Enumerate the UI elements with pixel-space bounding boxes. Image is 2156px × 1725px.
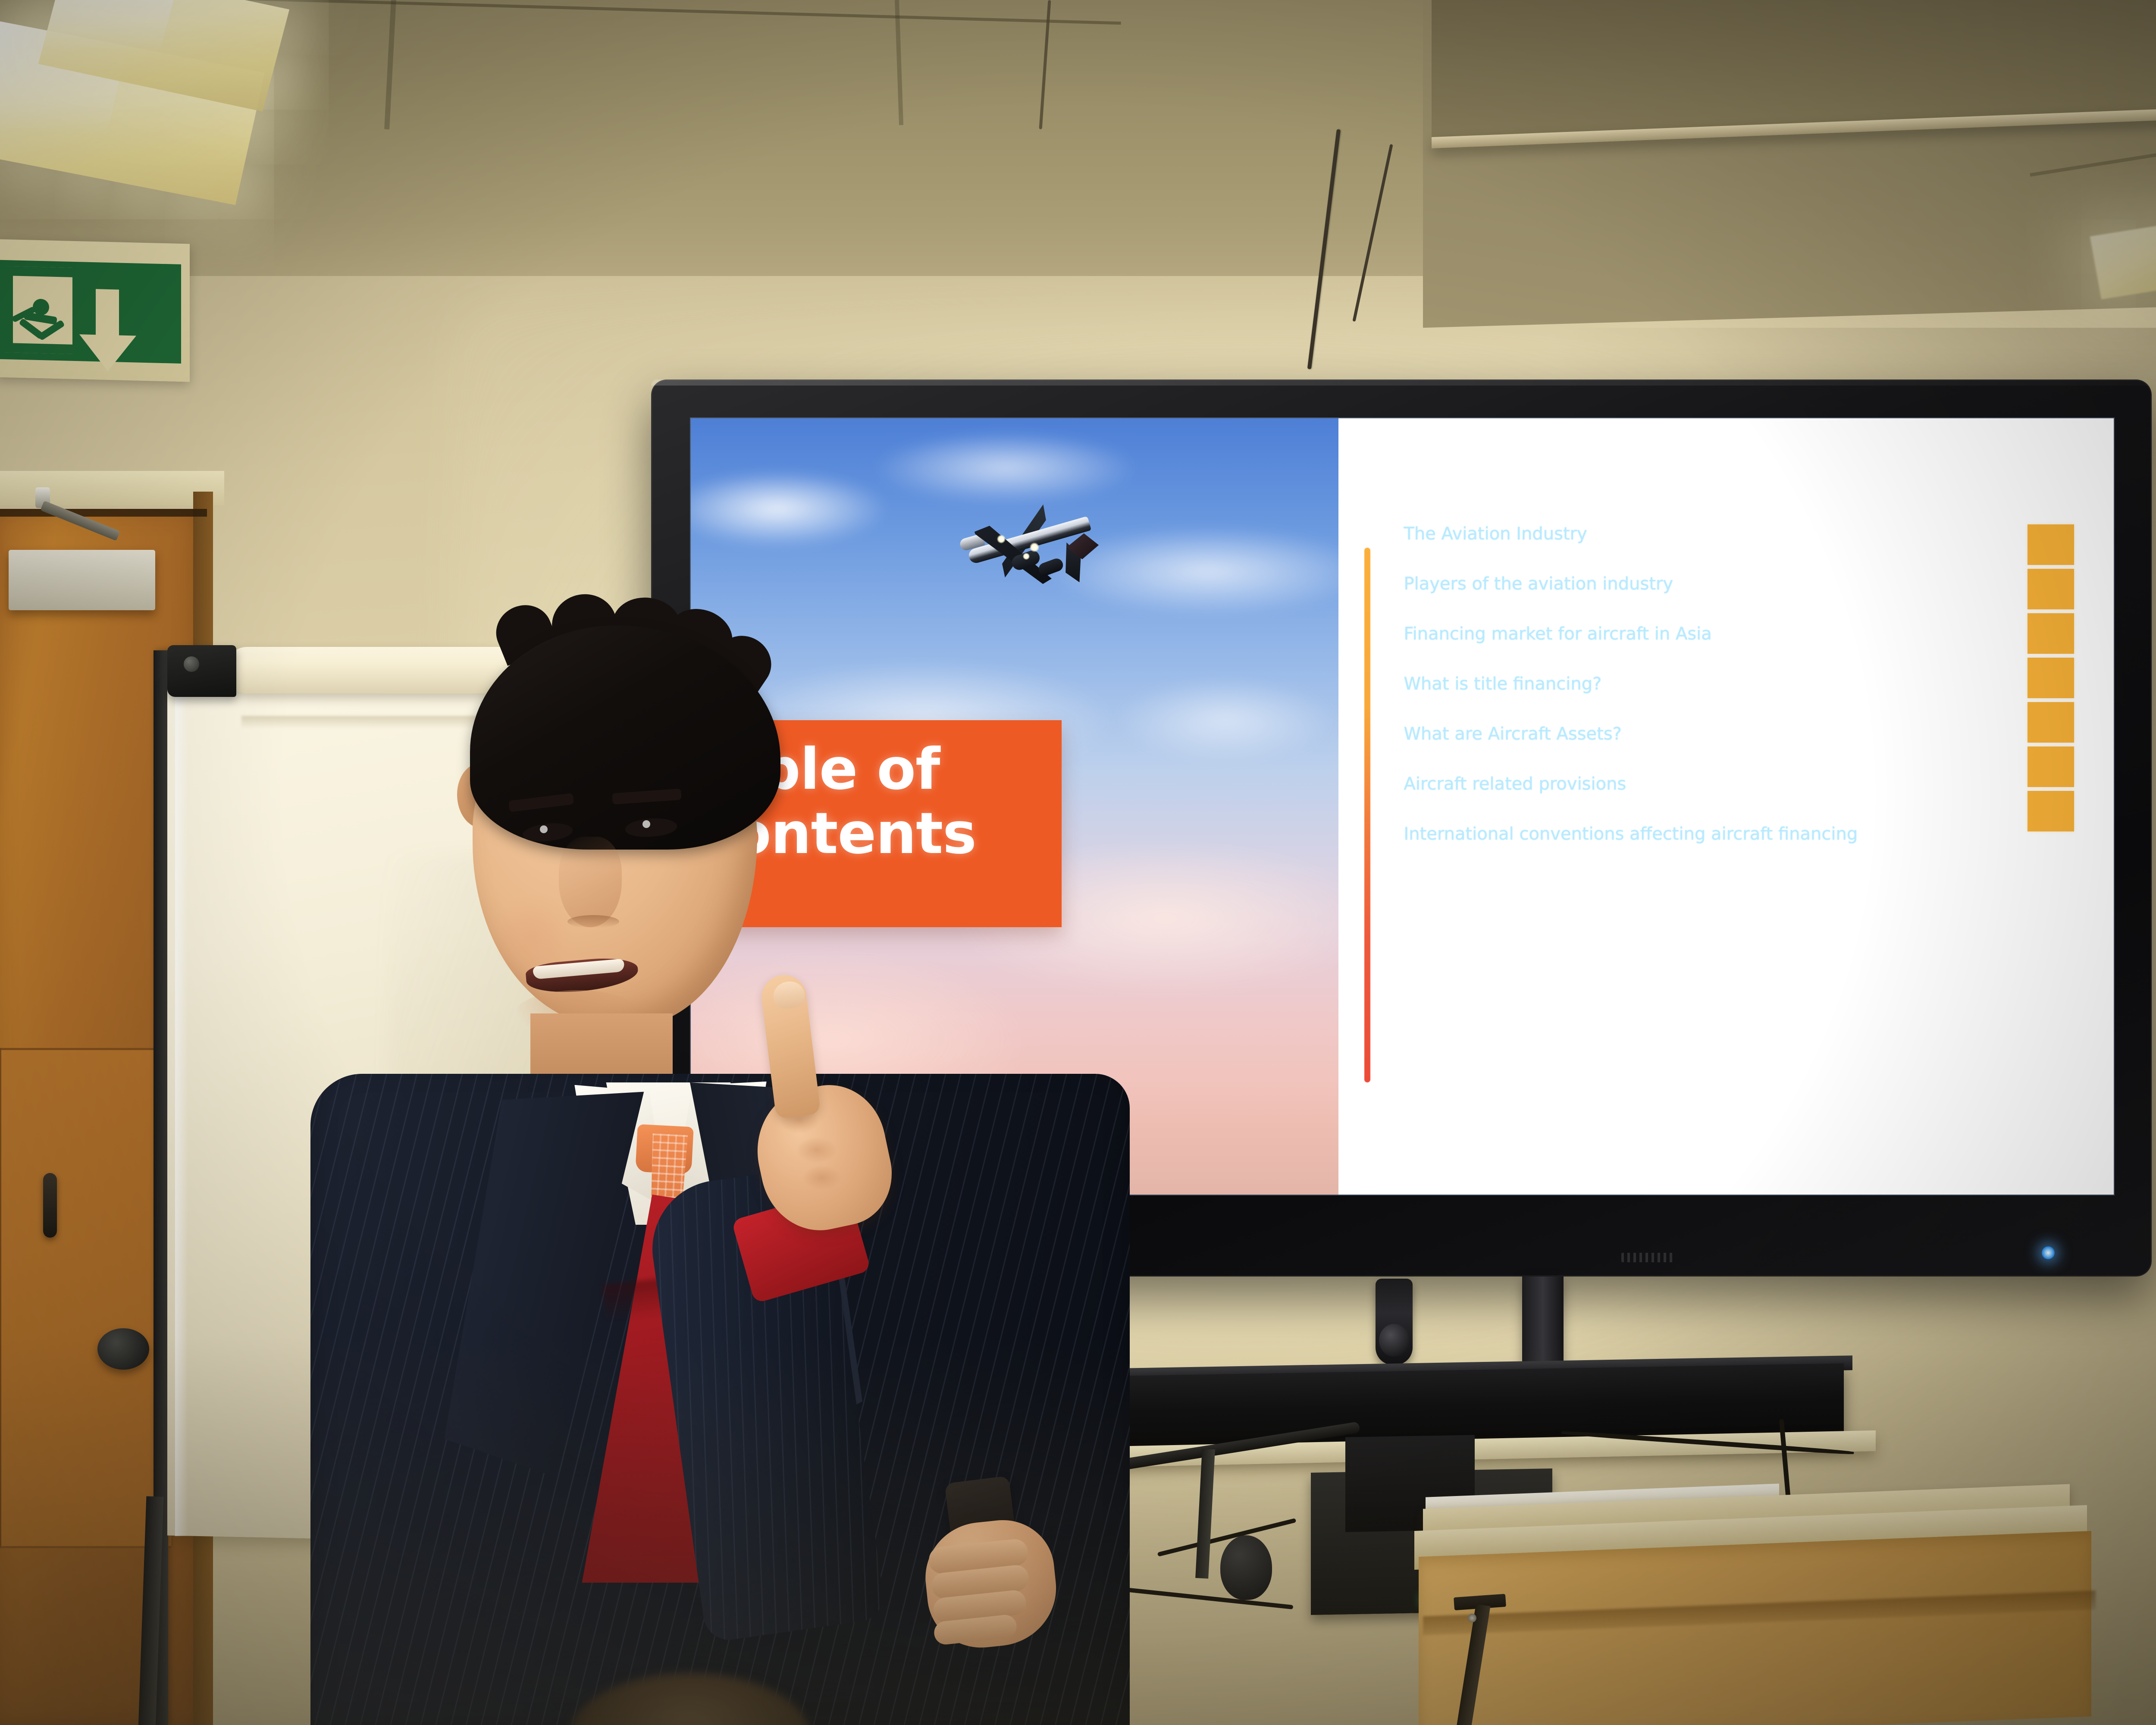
list-item: Aircraft related provisions: [1404, 775, 2008, 793]
list-item: What is title financing?: [1404, 675, 2008, 693]
knuckle-shading: [802, 1165, 842, 1190]
list-item: What are Aircraft Assets?: [1404, 725, 2008, 743]
display-bezel-highlight: [651, 379, 2152, 386]
lecture-room-scene: Table of Contents The Aviation Industry …: [0, 0, 2156, 1725]
slide-contents-panel: The Aviation Industry Players of the avi…: [1338, 418, 2114, 1195]
toc-marker-square: [2028, 524, 2074, 565]
running-person-icon: [33, 299, 49, 316]
list-item: Financing market for aircraft in Asia: [1404, 625, 2008, 643]
flipchart-clamp[interactable]: [167, 645, 236, 697]
toc-marker-square: [2028, 746, 2074, 787]
display-power-led: [2042, 1246, 2055, 1259]
toc-marker-square: [2028, 702, 2074, 743]
knuckle-shading: [796, 1137, 837, 1164]
eye-highlight: [642, 820, 650, 828]
display-brand-logo: [1621, 1253, 1673, 1262]
list-item: Players of the aviation industry: [1404, 575, 2008, 593]
eye-highlight: [540, 825, 548, 833]
table-of-contents-list: The Aviation Industry Players of the avi…: [1404, 525, 2008, 875]
emergency-exit-sign: [0, 239, 190, 382]
floor-shadow: [0, 1337, 2156, 1725]
door-top-rail: [0, 509, 207, 517]
down-arrow-icon: [79, 334, 136, 372]
door-closer-body: [9, 550, 155, 610]
accent-gradient-line: [1364, 548, 1370, 1082]
down-arrow-icon: [96, 289, 119, 341]
nose: [559, 837, 622, 927]
toc-marker-square: [2028, 658, 2074, 698]
toc-marker-square: [2028, 569, 2074, 609]
airplane-icon: [954, 492, 1109, 595]
toc-marker-column: [2028, 524, 2074, 835]
door-header-strip: [0, 471, 224, 505]
door-handle[interactable]: [43, 1173, 57, 1238]
exit-sign-green-field: [0, 260, 181, 364]
nostril-shading: [567, 915, 619, 928]
list-item: International conventions affecting airc…: [1404, 825, 2008, 843]
toc-marker-square: [2028, 791, 2074, 831]
toc-marker-square: [2028, 613, 2074, 654]
cloud: [691, 470, 889, 548]
list-item: The Aviation Industry: [1404, 525, 2008, 543]
